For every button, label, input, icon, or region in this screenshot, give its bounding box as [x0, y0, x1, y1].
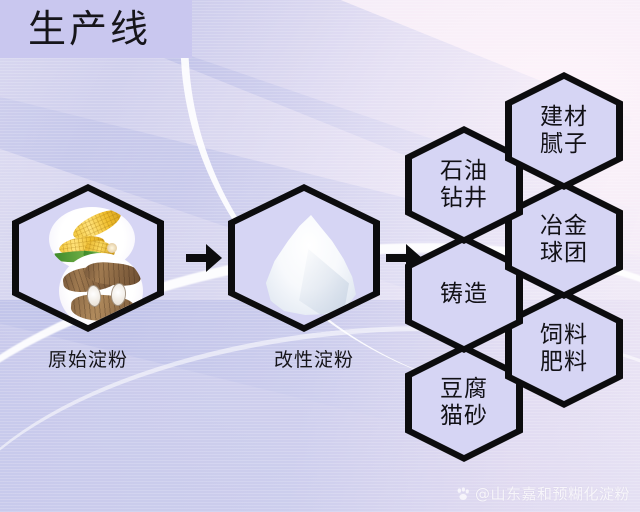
hexagon-building-putty-inner: 建材 腻子: [512, 79, 616, 183]
label-line-1: 冶金: [540, 213, 588, 240]
arrow-head: [406, 244, 422, 272]
hexagon-oil-drilling-inner: 石油 钻井: [412, 133, 516, 237]
hexagon-casting-label: 铸造: [440, 281, 488, 308]
watermark: @山东嘉和预糊化淀粉: [455, 483, 630, 504]
hexagon-metallurgy-pellet-label: 冶金 球团: [540, 213, 588, 267]
hexagon-tofu-cat-litter-inner: 豆腐 猫砂: [412, 351, 516, 455]
label-line-2: 腻子: [540, 131, 588, 158]
arrow-right-icon: [186, 244, 228, 272]
hexagon-tofu-cat-litter-label: 豆腐 猫砂: [440, 376, 488, 430]
hexagon-raw-starch-inner: [19, 191, 157, 325]
label-line-1: 豆腐: [440, 376, 488, 403]
label-line-1: 石油: [440, 158, 488, 185]
hexagon-modified-starch-inner: [235, 191, 373, 325]
page-title: 生产线: [28, 6, 151, 52]
starch-powder-photo: [257, 209, 365, 319]
modified-starch-label: 改性淀粉: [224, 345, 404, 372]
arrow-head: [206, 244, 222, 272]
slide-canvas: 生产线 原始淀粉: [0, 0, 640, 512]
hexagon-building-putty-label: 建材 腻子: [540, 104, 588, 158]
hexagon-oil-drilling-label: 石油 钻井: [440, 158, 488, 212]
hexagon-feed-fertilizer-label: 饲料 肥料: [540, 322, 588, 376]
arrow-right-icon: [386, 244, 428, 272]
label-line-2: 钻井: [440, 185, 488, 212]
label-line-1: 建材: [540, 104, 588, 131]
label-line-2: 肥料: [540, 349, 588, 376]
label-line-2: 球团: [540, 240, 588, 267]
label-line-1: 铸造: [440, 281, 488, 308]
paw-icon: [455, 486, 471, 502]
hexagon-feed-fertilizer-inner: 饲料 肥料: [512, 297, 616, 401]
corn-tip-icon: [107, 243, 117, 253]
raw-starch-label: 原始淀粉: [0, 345, 178, 372]
label-line-2: 猫砂: [440, 403, 488, 430]
hexagon-metallurgy-pellet-inner: 冶金 球团: [512, 188, 616, 292]
watermark-text: @山东嘉和预糊化淀粉: [475, 483, 630, 504]
label-line-1: 饲料: [540, 322, 588, 349]
